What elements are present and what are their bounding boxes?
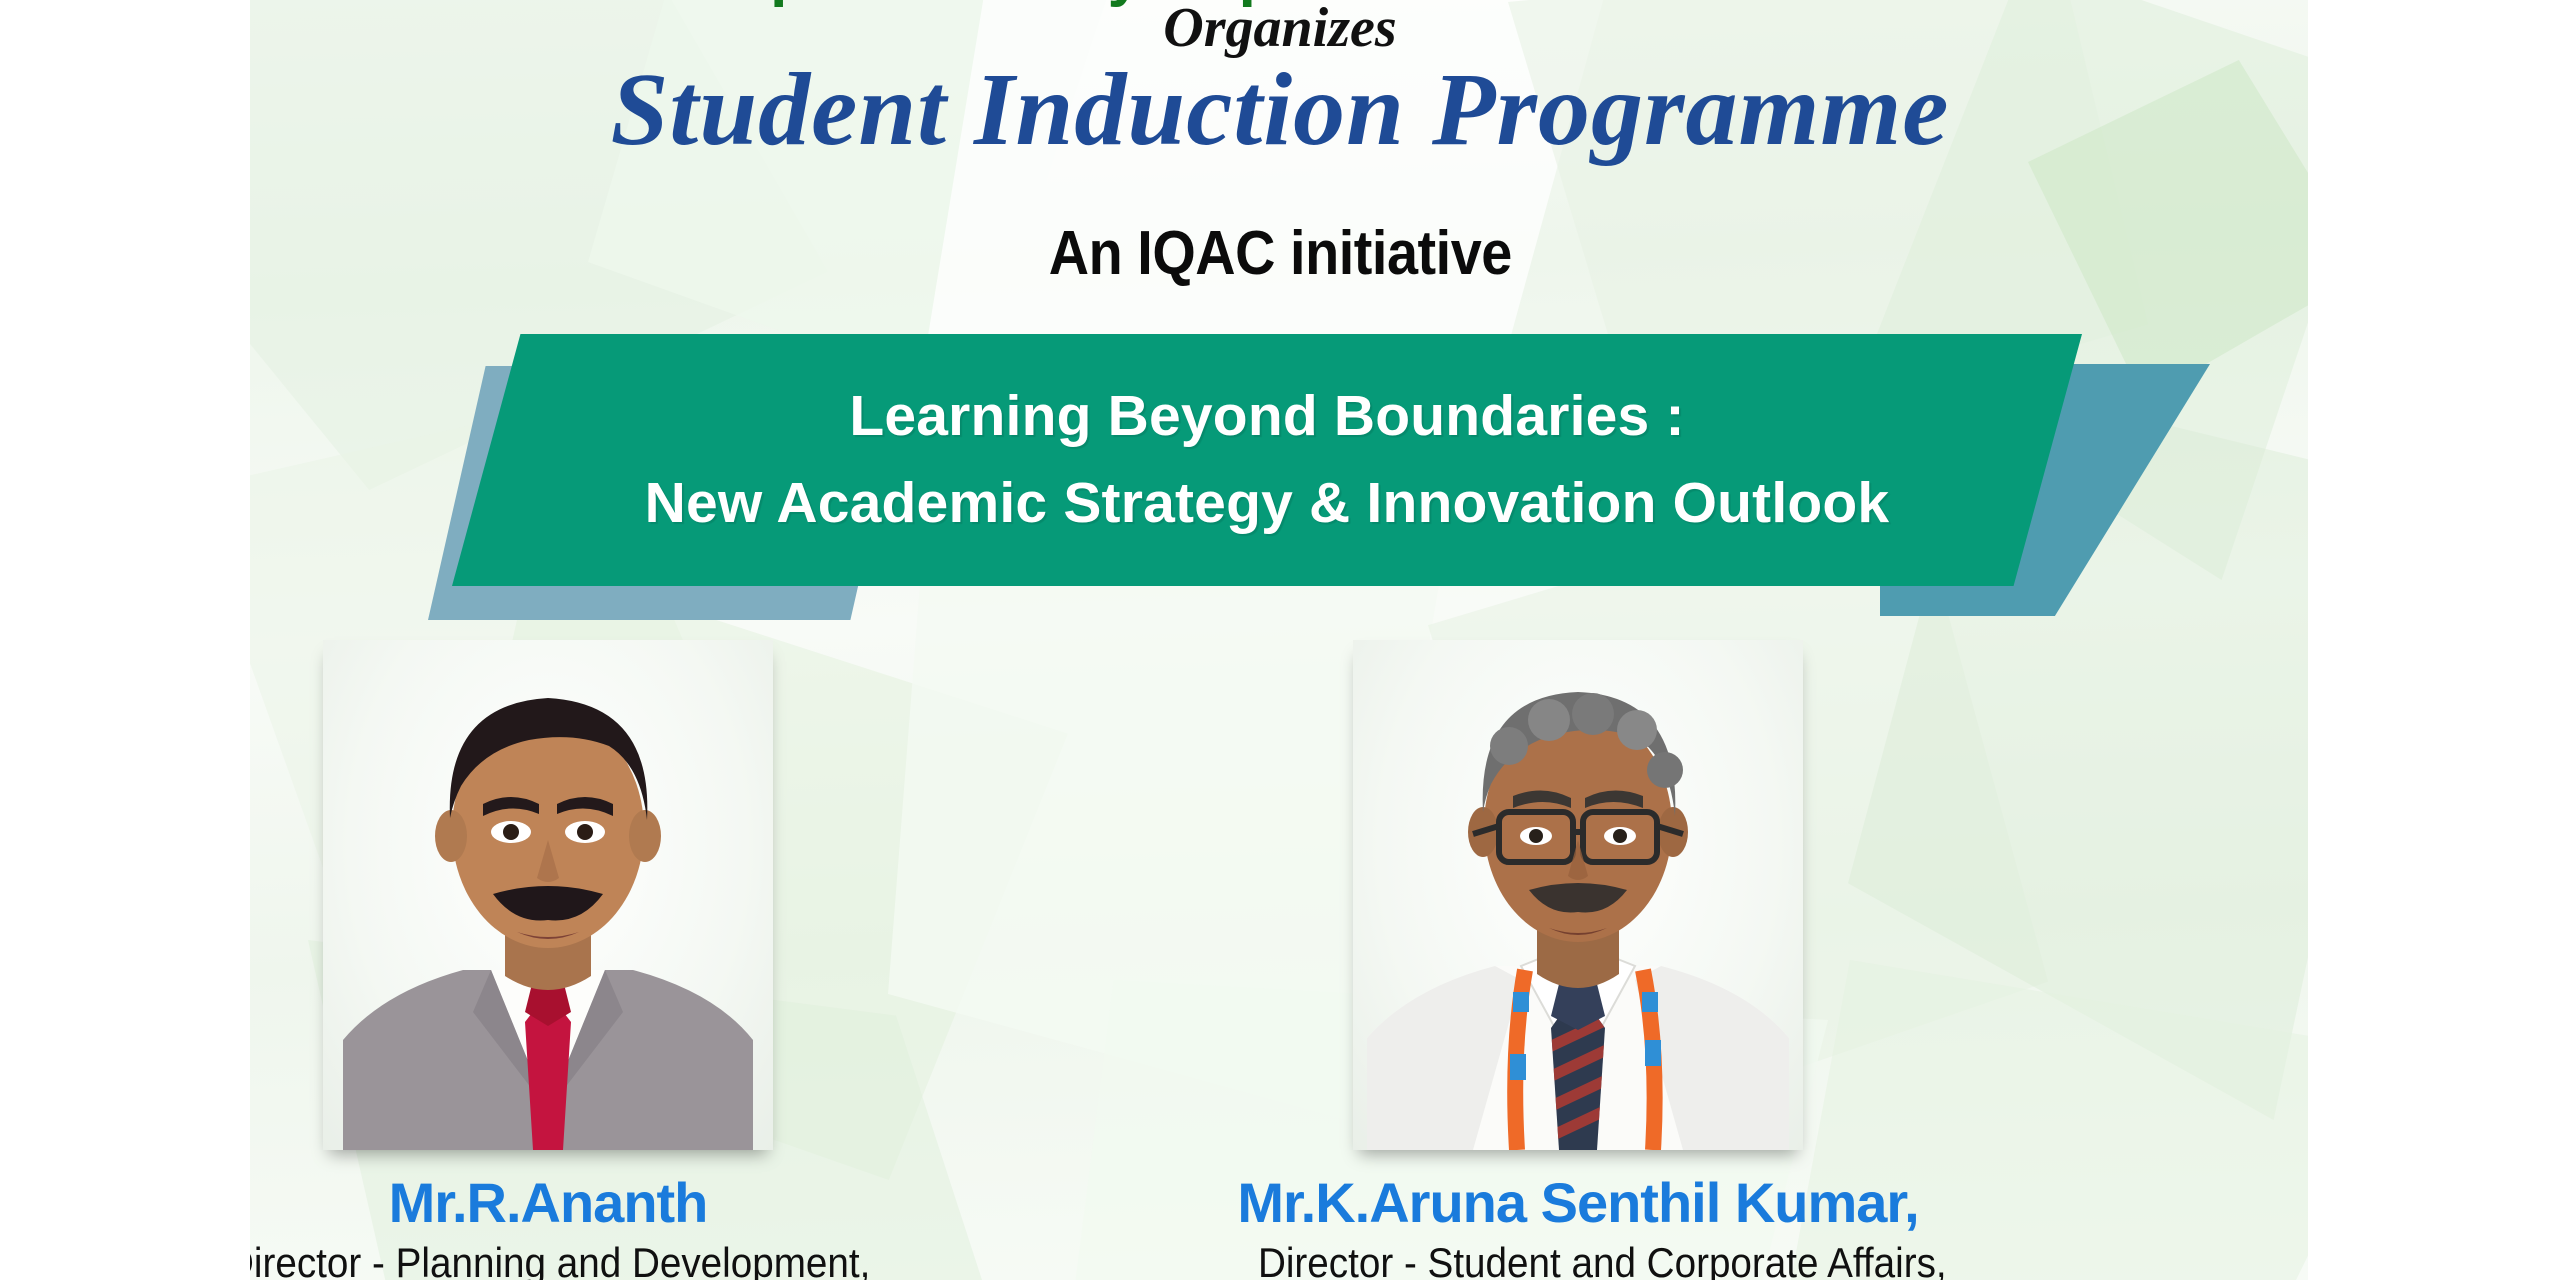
speaker-role-2: Director - Student and Corporate Affairs… xyxy=(1258,1239,1947,1280)
speaker-card-1: Mr.R.Ananth Director - Planning and Deve… xyxy=(198,640,898,1280)
banner-body: Learning Beyond Boundaries : New Academi… xyxy=(452,334,2082,586)
page-title: Student Induction Programme xyxy=(0,50,2560,169)
theme-banner: Learning Beyond Boundaries : New Academi… xyxy=(0,320,2560,620)
right-white-margin xyxy=(2308,0,2560,1280)
poster-canvas: Sponsored by Department of Science Organ… xyxy=(0,0,2560,1280)
left-white-margin xyxy=(0,0,250,1280)
speaker-role-1: Director - Planning and Development, xyxy=(226,1239,870,1280)
portrait-illustration-2 xyxy=(1353,640,1803,1150)
page-subtitle: An IQAC initiative xyxy=(0,218,2560,289)
portrait-illustration-1 xyxy=(323,640,773,1150)
speaker-name-2: Mr.K.Aruna Senthil Kumar, xyxy=(1228,1170,1928,1235)
banner-line-1: Learning Beyond Boundaries : xyxy=(849,381,1684,452)
banner-line-2: New Academic Strategy & Innovation Outlo… xyxy=(645,468,1890,539)
page-subtitle-text: An IQAC initiative xyxy=(1048,218,1511,289)
speaker-photo-1 xyxy=(323,640,773,1150)
speakers-row: Mr.R.Ananth Director - Planning and Deve… xyxy=(0,640,2560,1280)
speaker-card-2: Mr.K.Aruna Senthil Kumar, Director - Stu… xyxy=(1228,640,1928,1280)
speaker-photo-2 xyxy=(1353,640,1803,1150)
speaker-name-1: Mr.R.Ananth xyxy=(198,1170,898,1235)
page-title-text: Student Induction Programme xyxy=(611,52,1950,167)
